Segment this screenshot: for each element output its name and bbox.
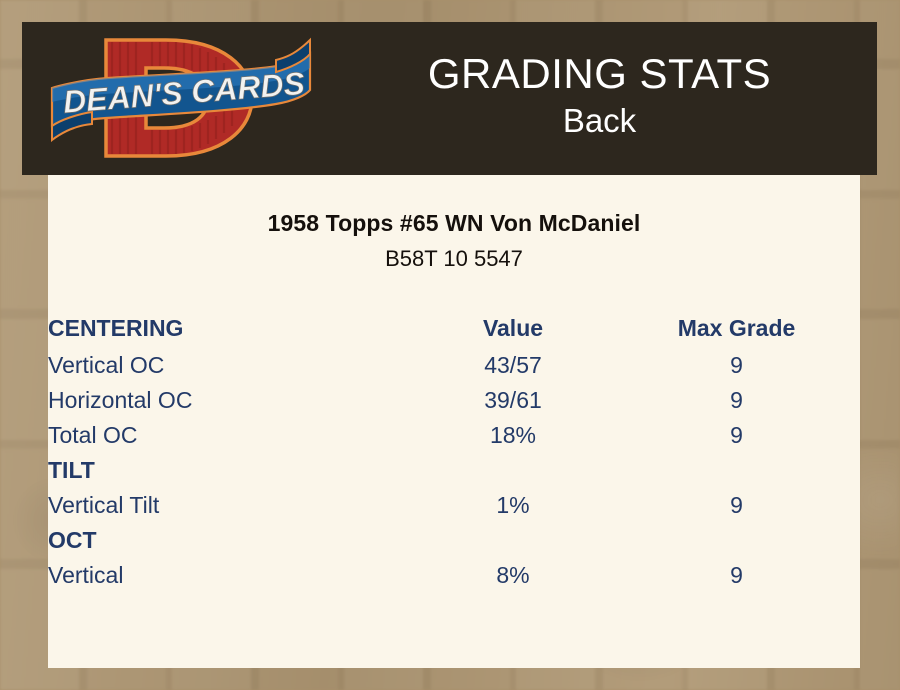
row-max-grade: 9 — [613, 488, 860, 523]
column-header-centering: CENTERING — [48, 308, 413, 348]
section-header-oct: OCT — [48, 523, 860, 558]
row-value: 39/61 — [413, 383, 613, 418]
table-head: CENTERING Value Max Grade — [48, 308, 860, 348]
row-label: Horizontal OC — [48, 383, 413, 418]
row-max-grade: 9 — [613, 383, 860, 418]
column-header-max-grade: Max Grade — [613, 308, 860, 348]
table-body: Vertical OC 43/57 9 Horizontal OC 39/61 … — [48, 348, 860, 593]
section-spacer-grade — [613, 453, 860, 488]
deans-cards-logo[interactable]: DEAN'S CARDS — [48, 28, 316, 168]
row-max-grade: 9 — [613, 558, 860, 593]
table-row: Vertical Tilt 1% 9 — [48, 488, 860, 523]
page-subtitle: Back — [563, 100, 636, 141]
logo-svg: DEAN'S CARDS — [48, 28, 316, 168]
row-label: Total OC — [48, 418, 413, 453]
row-value: 1% — [413, 488, 613, 523]
section-label: TILT — [48, 453, 413, 488]
column-header-value: Value — [413, 308, 613, 348]
grading-stats-table: CENTERING Value Max Grade Vertical OC 43… — [48, 308, 860, 593]
content-panel: 1958 Topps #65 WN Von McDaniel B58T 10 5… — [48, 175, 860, 668]
table-row: Vertical OC 43/57 9 — [48, 348, 860, 383]
section-label: OCT — [48, 523, 413, 558]
card-serial-number: B58T 10 5547 — [48, 246, 860, 272]
row-value: 43/57 — [413, 348, 613, 383]
header-bar: DEAN'S CARDS GRADING STATS Back — [22, 22, 877, 175]
table-row: Horizontal OC 39/61 9 — [48, 383, 860, 418]
row-value: 8% — [413, 558, 613, 593]
card-title: 1958 Topps #65 WN Von McDaniel — [48, 210, 860, 237]
page-title: GRADING STATS — [428, 52, 771, 96]
row-label: Vertical — [48, 558, 413, 593]
table-header-row: CENTERING Value Max Grade — [48, 308, 860, 348]
section-spacer-value — [413, 453, 613, 488]
row-label: Vertical OC — [48, 348, 413, 383]
table-row: Vertical 8% 9 — [48, 558, 860, 593]
section-spacer-value — [413, 523, 613, 558]
section-header-tilt: TILT — [48, 453, 860, 488]
header-title-block: GRADING STATS Back — [322, 22, 877, 175]
section-spacer-grade — [613, 523, 860, 558]
row-max-grade: 9 — [613, 348, 860, 383]
row-value: 18% — [413, 418, 613, 453]
row-label: Vertical Tilt — [48, 488, 413, 523]
row-max-grade: 9 — [613, 418, 860, 453]
table-row: Total OC 18% 9 — [48, 418, 860, 453]
